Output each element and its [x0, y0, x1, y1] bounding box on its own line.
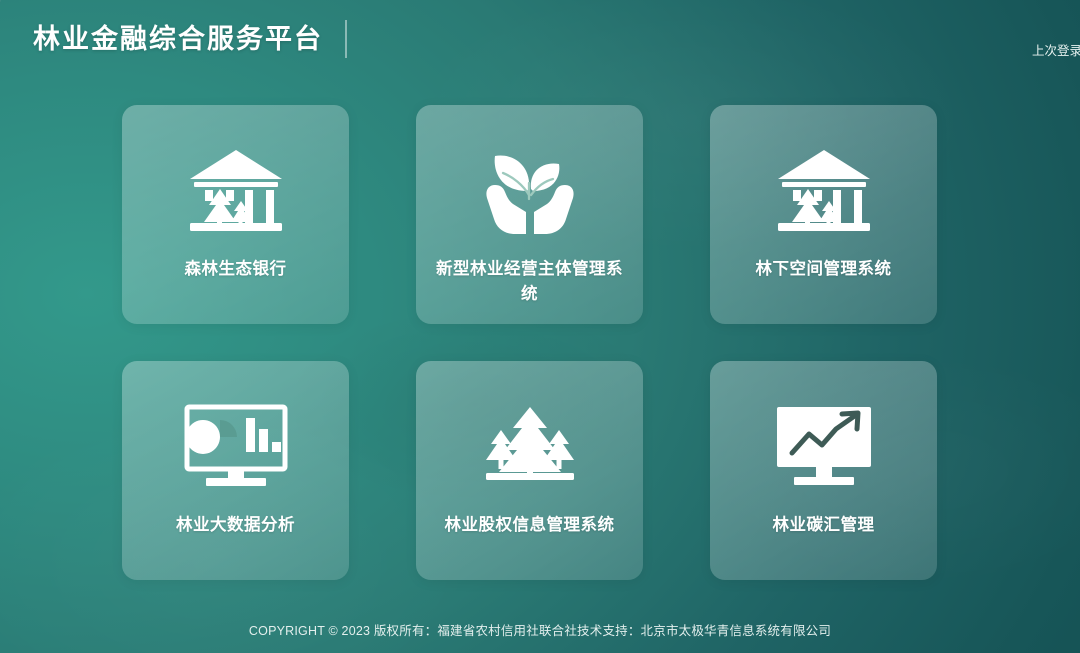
bank-with-trees-icon: [768, 139, 880, 243]
bank-with-trees-icon: [180, 139, 292, 243]
module-card-forestry-big-data[interactable]: 林业大数据分析: [122, 361, 349, 580]
module-card-new-forestry-entity[interactable]: 新型林业经营主体管理系统: [416, 105, 643, 324]
module-card-label: 林业大数据分析: [176, 513, 295, 538]
user-account[interactable]: 福: [976, 22, 1080, 36]
module-card-label: 林业碳汇管理: [773, 513, 875, 538]
three-pine-trees-icon: [474, 395, 586, 499]
module-card-label: 林下空间管理系统: [756, 257, 892, 282]
module-card-forestry-equity-info[interactable]: 林业股权信息管理系统: [416, 361, 643, 580]
module-card-label: 新型林业经营主体管理系统: [435, 257, 625, 307]
footer-copyright: COPYRIGHT © 2023 版权所有：福建省农村信用社联合社: [249, 624, 577, 638]
title-divider: [345, 20, 347, 58]
module-card-forest-eco-bank[interactable]: 森林生态银行: [122, 105, 349, 324]
last-login-ip: 上次登录IP:124.72.2: [996, 45, 1080, 59]
monitor-trend-arrow-icon: [768, 395, 880, 499]
brand-block: 林业金融综合服务平台: [0, 20, 347, 58]
footer-support: 技术支持：北京市太极华青信息系统有限公司: [577, 624, 831, 638]
module-grid: 森林生态银行 新型林业经营主体管理系统: [122, 105, 937, 578]
module-card-forestry-carbon-sink[interactable]: 林业碳汇管理: [710, 361, 937, 580]
module-card-under-forest-space[interactable]: 林下空间管理系统: [710, 105, 937, 324]
hands-holding-leaves-icon: [474, 139, 586, 243]
monitor-pie-bar-chart-icon: [180, 395, 292, 499]
module-card-label: 森林生态银行: [185, 257, 287, 282]
page-footer: COPYRIGHT © 2023 版权所有：福建省农村信用社联合社技术支持：北京…: [0, 620, 1080, 639]
page-header: 林业金融综合服务平台 福 上次登录IP:124.72.2: [0, 0, 1080, 78]
page-title: 林业金融综合服务平台: [33, 26, 323, 53]
module-card-label: 林业股权信息管理系统: [445, 513, 615, 538]
header-right-block: 福 上次登录IP:124.72.2: [930, 22, 1080, 59]
